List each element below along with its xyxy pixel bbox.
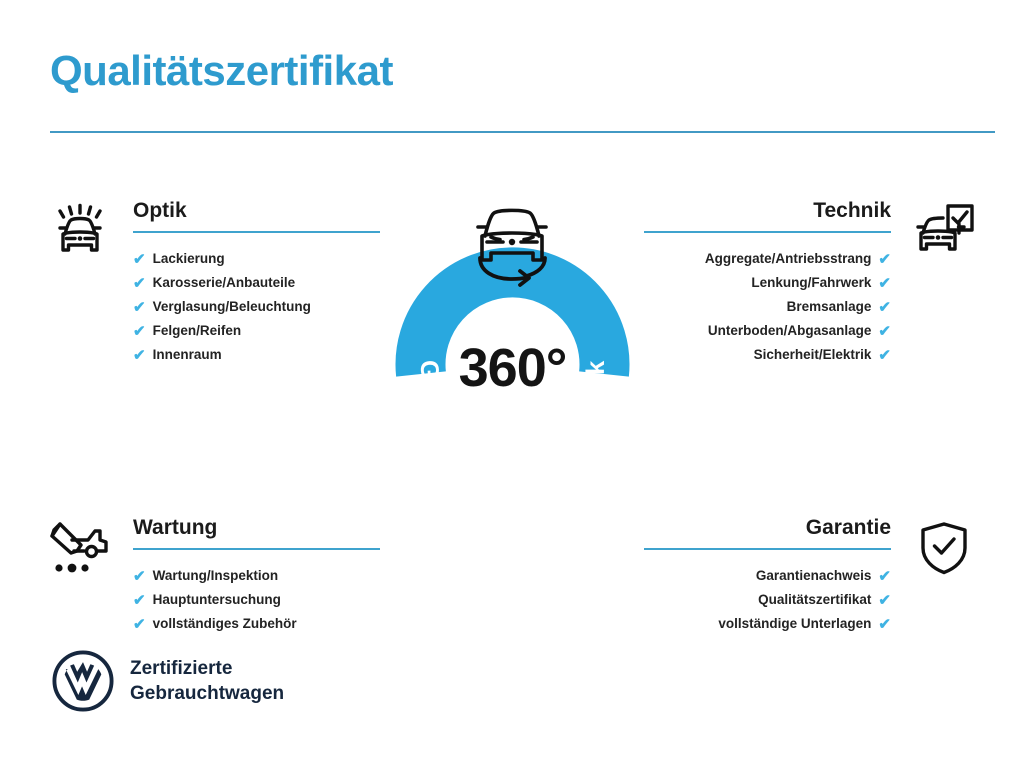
right-column: Technik Aggregate/Antriebsstrang✔ Lenkun…: [634, 200, 979, 636]
vw-footer-text: Zertifizierte Gebrauchtwagen: [130, 656, 284, 706]
title-divider: [50, 131, 995, 133]
check-icon: ✔: [878, 276, 891, 291]
car-front-lights-icon: [45, 200, 115, 262]
check-icon: ✔: [133, 348, 146, 363]
badge-number: 360°: [380, 341, 645, 395]
list-item: Sicherheit/Elektrik✔: [634, 343, 891, 367]
list-item-label: Lenkung/Fahrwerk: [751, 271, 871, 295]
check-icon: ✔: [878, 348, 891, 363]
check-icon: ✔: [878, 252, 891, 267]
checklist-garantie: Garantienachweis✔ Qualitätszertifikat✔ v…: [634, 550, 891, 636]
list-item-label: Hauptuntersuchung: [153, 588, 281, 612]
car-service-pen-icon: [45, 517, 115, 579]
list-item: ✔Lackierung: [133, 247, 390, 271]
car-front-checkbox-icon: [909, 200, 979, 262]
list-item: Lenkung/Fahrwerk✔: [634, 271, 891, 295]
section-garantie-body: Garantie Garantienachweis✔ Qualitätszert…: [634, 517, 891, 636]
check-icon: ✔: [133, 300, 146, 315]
list-item-label: Sicherheit/Elektrik: [754, 343, 872, 367]
check-icon: ✔: [133, 593, 146, 608]
check-icon: ✔: [133, 324, 146, 339]
section-heading: Optik: [133, 200, 390, 231]
shield-check-icon: [909, 517, 979, 579]
list-item: ✔Felgen/Reifen: [133, 319, 390, 343]
section-heading: Wartung: [133, 517, 390, 548]
list-item-label: Felgen/Reifen: [153, 319, 242, 343]
check-icon: ✔: [878, 617, 891, 632]
car-rotate-360-icon: [462, 193, 562, 291]
list-item: ✔Innenraum: [133, 343, 390, 367]
section-wartung: Wartung ✔Wartung/Inspektion ✔Hauptunters…: [45, 517, 390, 636]
list-item-label: Lackierung: [153, 247, 225, 271]
list-item: ✔Hauptuntersuchung: [133, 588, 390, 612]
list-item-label: Qualitätszertifikat: [758, 588, 871, 612]
list-item-label: Wartung/Inspektion: [153, 564, 279, 588]
vw-footer-line-1: Zertifizierte: [130, 656, 284, 681]
list-item-label: Bremsanlage: [787, 295, 872, 319]
section-heading: Garantie: [634, 517, 891, 548]
list-item: Qualitätszertifikat✔: [634, 588, 891, 612]
check-icon: ✔: [878, 569, 891, 584]
check-icon: ✔: [878, 593, 891, 608]
checklist-wartung: ✔Wartung/Inspektion ✔Hauptuntersuchung ✔…: [133, 550, 390, 636]
section-technik-body: Technik Aggregate/Antriebsstrang✔ Lenkun…: [634, 200, 891, 367]
list-item: ✔Verglasung/Beleuchtung: [133, 295, 390, 319]
list-item-label: Innenraum: [153, 343, 222, 367]
check-icon: ✔: [133, 617, 146, 632]
certificate-page: Qualitätszertifikat: [0, 0, 1024, 768]
list-item-label: Garantienachweis: [756, 564, 872, 588]
checklist-optik: ✔Lackierung ✔Karosserie/Anbauteile ✔Verg…: [133, 233, 390, 367]
list-item-label: vollständiges Zubehör: [153, 612, 297, 636]
left-column: Optik ✔Lackierung ✔Karosserie/Anbauteile…: [45, 200, 390, 636]
list-item: Bremsanlage✔: [634, 295, 891, 319]
section-optik-body: Optik ✔Lackierung ✔Karosserie/Anbauteile…: [133, 200, 390, 367]
checklist-technik: Aggregate/Antriebsstrang✔ Lenkung/Fahrwe…: [634, 233, 891, 367]
list-item-label: Verglasung/Beleuchtung: [153, 295, 311, 319]
badge-360-check: Gebrauchtwagen-Check 360°: [380, 193, 645, 493]
list-item: ✔Wartung/Inspektion: [133, 564, 390, 588]
list-item: ✔Karosserie/Anbauteile: [133, 271, 390, 295]
section-garantie: Garantie Garantienachweis✔ Qualitätszert…: [634, 517, 979, 636]
check-icon: ✔: [133, 276, 146, 291]
list-item: Unterboden/Abgasanlage✔: [634, 319, 891, 343]
vw-footer-logo: Zertifizierte Gebrauchtwagen: [52, 650, 284, 712]
list-item-label: vollständige Unterlagen: [718, 612, 871, 636]
page-title: Qualitätszertifikat: [50, 48, 393, 94]
section-wartung-body: Wartung ✔Wartung/Inspektion ✔Hauptunters…: [133, 517, 390, 636]
vw-footer-line-2: Gebrauchtwagen: [130, 681, 284, 706]
section-technik: Technik Aggregate/Antriebsstrang✔ Lenkun…: [634, 200, 979, 367]
vw-logo-icon: [52, 650, 114, 712]
section-optik: Optik ✔Lackierung ✔Karosserie/Anbauteile…: [45, 200, 390, 367]
check-icon: ✔: [133, 252, 146, 267]
check-icon: ✔: [878, 300, 891, 315]
list-item: Garantienachweis✔: [634, 564, 891, 588]
list-item-label: Aggregate/Antriebsstrang: [705, 247, 872, 271]
list-item: Aggregate/Antriebsstrang✔: [634, 247, 891, 271]
section-heading: Technik: [634, 200, 891, 231]
check-icon: ✔: [133, 569, 146, 584]
list-item: vollständige Unterlagen✔: [634, 612, 891, 636]
list-item: ✔vollständiges Zubehör: [133, 612, 390, 636]
list-item-label: Unterboden/Abgasanlage: [708, 319, 872, 343]
list-item-label: Karosserie/Anbauteile: [153, 271, 296, 295]
check-icon: ✔: [878, 324, 891, 339]
